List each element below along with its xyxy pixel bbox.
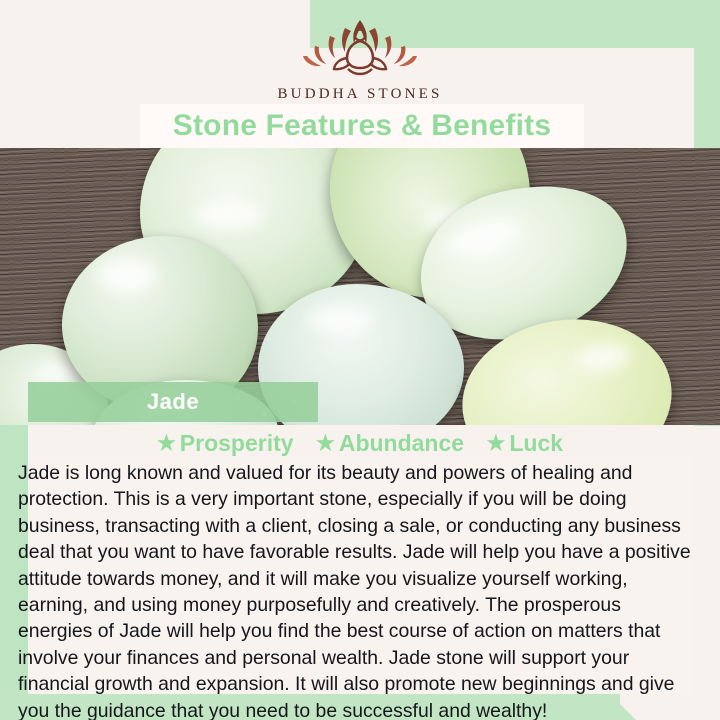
benefit-label: Prosperity <box>180 430 294 456</box>
star-icon: ★ <box>316 431 335 456</box>
benefit-label: Luck <box>509 430 563 456</box>
benefit-item-abundance: ★Abundance <box>316 430 464 457</box>
benefit-label: Abundance <box>339 430 464 456</box>
description-text: Jade is long known and valued for its be… <box>18 460 698 720</box>
stone-name-label: Jade <box>28 382 318 422</box>
benefits-row: ★Prosperity ★Abundance ★Luck <box>28 430 692 457</box>
lotus-meditating-figure-icon <box>285 12 435 82</box>
benefit-item-luck: ★Luck <box>487 430 564 457</box>
brand-logo: BUDDHA STONES <box>0 12 720 103</box>
page-title: Stone Features & Benefits <box>140 104 584 148</box>
star-icon: ★ <box>157 431 176 456</box>
star-icon: ★ <box>487 431 506 456</box>
infographic-page: BUDDHA STONES Stone Features & Benefits … <box>0 0 720 720</box>
benefit-item-prosperity: ★Prosperity <box>157 430 294 457</box>
brand-name: BUDDHA STONES <box>0 86 720 103</box>
